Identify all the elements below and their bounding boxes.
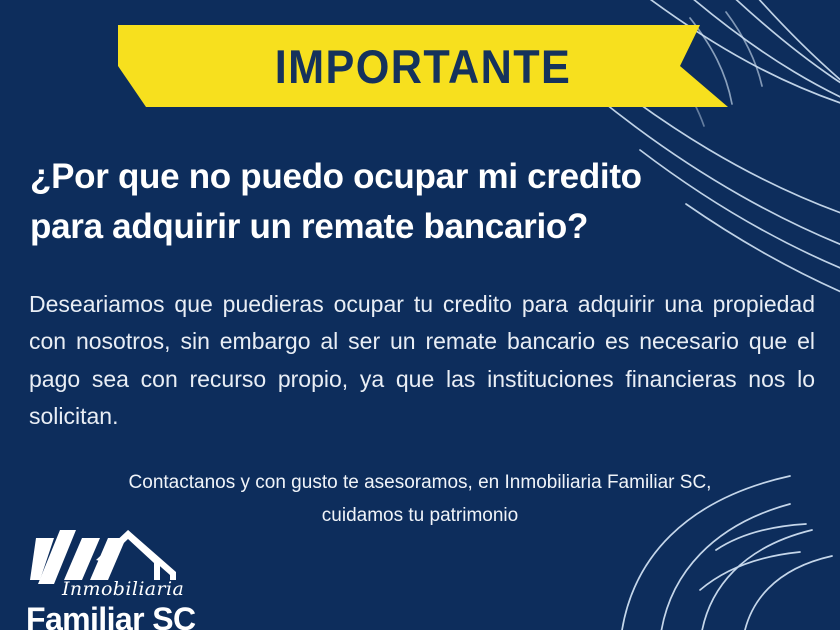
body-paragraph: Deseariamos que puedieras ocupar tu cred… (29, 286, 815, 472)
headline-line-2: para adquirir un remate bancario? (30, 202, 730, 252)
closing-line-1: Contactanos y con gusto te asesoramos, e… (60, 466, 780, 499)
logo-company-name: Familiar SC (26, 601, 195, 630)
closing-message: Contactanos y con gusto te asesoramos, e… (60, 466, 780, 533)
logo-monogram-icon (30, 524, 182, 586)
logo-script-text: Inmobiliaria (62, 578, 184, 600)
ribbon-banner: IMPORTANTE (118, 25, 728, 107)
poster-canvas: IMPORTANTE ¿Por que no puedo ocupar mi c… (0, 0, 840, 630)
headline: ¿Por que no puedo ocupar mi credito para… (30, 152, 730, 251)
headline-line-1: ¿Por que no puedo ocupar mi credito (30, 152, 730, 202)
company-logo: Inmobiliaria Familiar SC (26, 524, 206, 628)
ribbon-title: IMPORTANTE (142, 25, 703, 107)
